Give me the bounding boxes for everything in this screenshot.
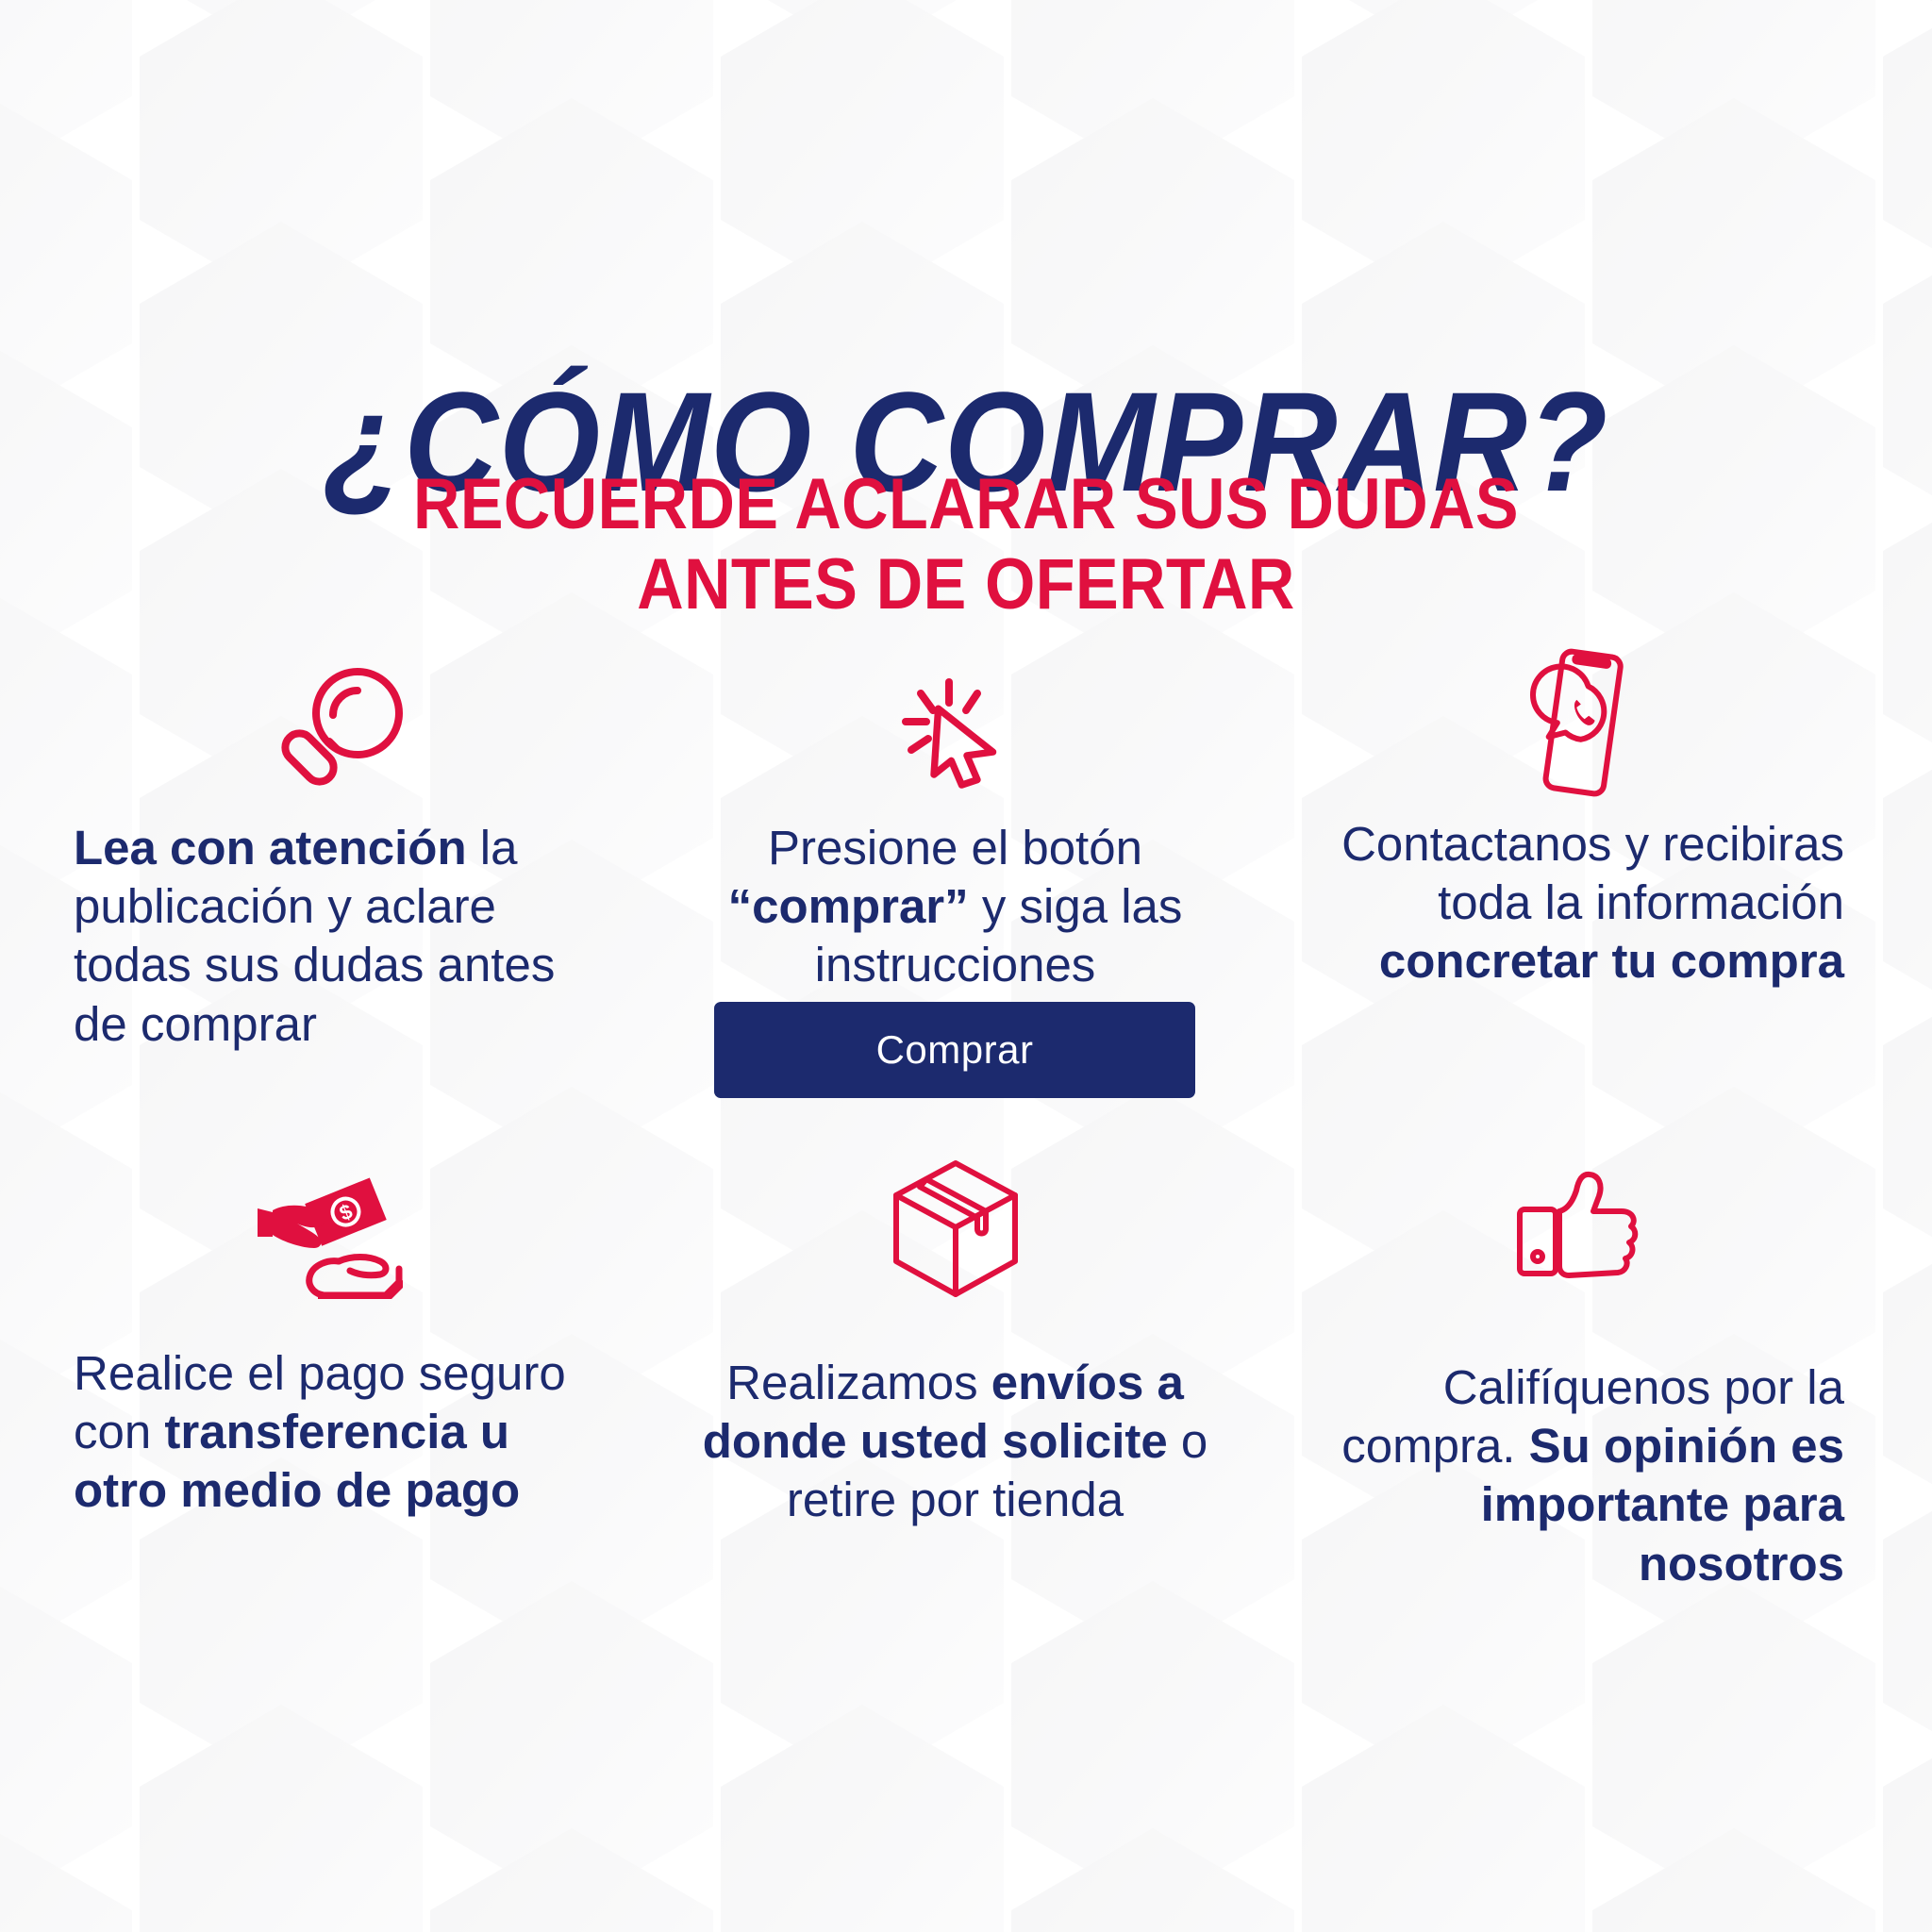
infographic-page: ¿CÓMO COMPRAR? RECUERDE ACLARAR SUS DUDA… — [0, 0, 1932, 1932]
step-rate-us: Califíquenos por la compra. Su opinión e… — [1321, 1146, 1844, 1593]
step-3-icon-wrap — [1321, 646, 1844, 802]
page-subtitle: RECUERDE ACLARAR SUS DUDAS ANTES DE OFER… — [96, 464, 1835, 625]
step-5-icon-wrap — [698, 1146, 1212, 1302]
subtitle-line-2: ANTES DE OFERTAR — [96, 544, 1835, 625]
step-read-publication: Lea con atención la publicación y aclare… — [74, 660, 602, 1054]
step-3-text: Contactanos y recibiras toda la informac… — [1321, 815, 1844, 991]
step-1-icon-wrap — [74, 660, 602, 802]
thumbs-up-icon — [1512, 1170, 1654, 1302]
comprar-button[interactable]: Comprar — [714, 1002, 1195, 1098]
step-1-text: Lea con atención la publicación y aclare… — [74, 819, 602, 1054]
magnifier-icon — [267, 662, 408, 802]
step-4-text: Realice el pago seguro con transferencia… — [74, 1344, 588, 1521]
step-6-icon-wrap — [1321, 1146, 1844, 1302]
subtitle-line-1: RECUERDE ACLARAR SUS DUDAS — [96, 464, 1835, 544]
whatsapp-phone-icon — [1522, 646, 1644, 802]
click-cursor-icon — [894, 675, 1017, 802]
step-2-icon-wrap — [698, 660, 1212, 802]
cash-hand-icon: $ — [248, 1174, 413, 1316]
step-shipping-or-pickup: Realizamos envíos a donde usted solicite… — [698, 1146, 1212, 1530]
step-5-text: Realizamos envíos a donde usted solicite… — [698, 1354, 1212, 1530]
package-box-icon — [885, 1156, 1026, 1302]
step-press-buy-button: Presione el botón “comprar” y siga las i… — [698, 660, 1212, 995]
step-contact-whatsapp: Contactanos y recibiras toda la informac… — [1321, 646, 1844, 991]
step-2-text: Presione el botón “comprar” y siga las i… — [698, 819, 1212, 995]
step-4-icon-wrap: $ — [74, 1156, 588, 1316]
step-make-payment: $ Realice el pago seguro con transferenc… — [74, 1156, 588, 1521]
step-6-text: Califíquenos por la compra. Su opinión e… — [1321, 1358, 1844, 1593]
